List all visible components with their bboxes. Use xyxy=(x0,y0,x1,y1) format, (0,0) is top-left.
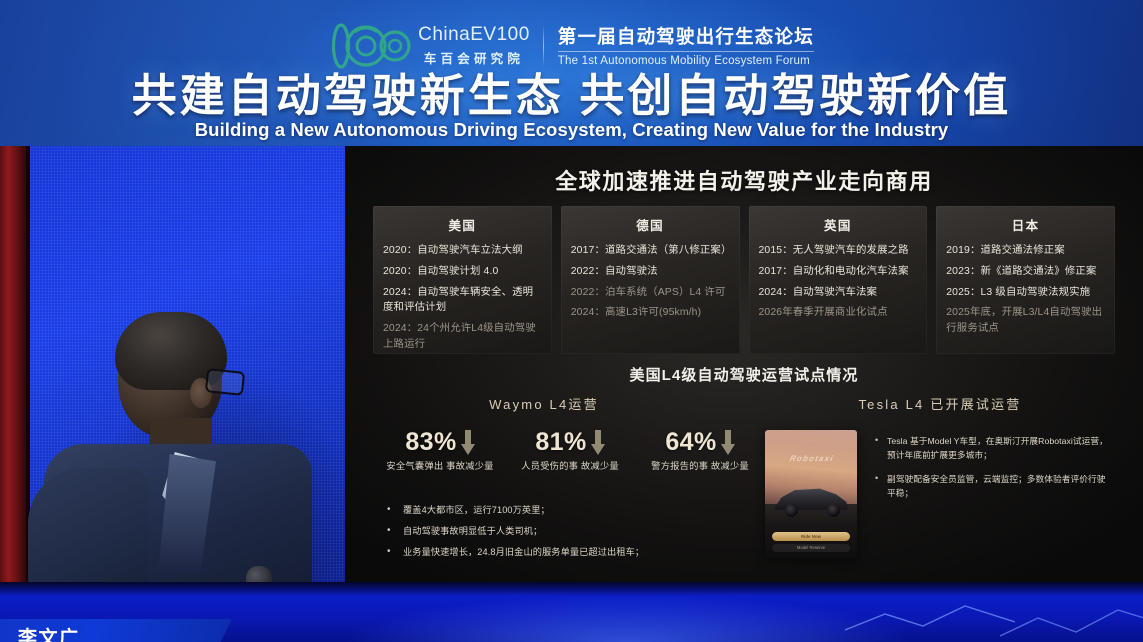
stat-value: 83% xyxy=(405,428,456,457)
robotaxi-watermark: Robotaxi xyxy=(773,454,849,470)
speaker-shoulder xyxy=(28,468,148,598)
banner-logo-row: ChinaEV100 车百会研究院 第一届自动驾驶出行生态论坛 The 1st … xyxy=(0,22,1143,70)
country-name: 德国 xyxy=(571,215,730,234)
promo-secondary-button[interactable]: Model Reserve xyxy=(772,544,850,552)
policy-item: 2024：24个州允许L4级自动驾驶上路运行 xyxy=(383,321,542,353)
speaker-glasses xyxy=(205,368,245,396)
waymo-bullet-list: 覆盖4大都市区，运行7100万英里； 自动驾驶事故明显低于人类司机； 业务量快速… xyxy=(381,504,761,567)
brand-name-cn: 车百会研究院 xyxy=(424,48,524,67)
policy-item: 2019：道路交通法修正案 xyxy=(946,243,1105,259)
robotaxi-promo-card: Robotaxi Ride Now Model Reserve xyxy=(765,430,857,558)
policy-item: 2026年春季开展商业化试点 xyxy=(759,305,918,321)
country-card: 德国 2017：道路交通法（第八修正案） 2022：自动驾驶法 2022：泊车系… xyxy=(561,206,740,354)
policy-item: 2022：泊车系统（APS）L4 许可 xyxy=(571,285,730,301)
policy-item: 2020：自动驾驶汽车立法大纲 xyxy=(383,243,542,259)
floor-light-glow xyxy=(343,594,915,642)
stat-value: 81% xyxy=(535,428,586,457)
stage-curtain xyxy=(0,146,30,598)
waymo-stat-list: 83% 安全气囊弹出 事故减少量 81% xyxy=(375,428,765,473)
presentation-slide: 全球加速推进自动驾驶产业走向商用 美国 2020：自动驾驶汽车立法大纲 2020… xyxy=(345,146,1143,598)
stage-scene: 李文广 引望智能驾驶产品线总裁 全球加速推进自动驾驶产业走向商用 美国 2020… xyxy=(0,146,1143,642)
policy-item: 2024：自动驾驶汽车法案 xyxy=(759,285,918,301)
stat-label: 警方报告的事 故减少量 xyxy=(635,460,765,473)
car-wheel xyxy=(827,504,840,517)
broadcast-frame: ChinaEV100 车百会研究院 第一届自动驾驶出行生态论坛 The 1st … xyxy=(0,0,1143,642)
stat-label: 人员受伤的事 故减少量 xyxy=(505,460,635,473)
country-card: 英国 2015：无人驾驶汽车的发展之路 2017：自动化和电动化汽车法案 202… xyxy=(749,206,928,354)
policy-item: 2025：L3 级自动驾驶法规实施 xyxy=(946,285,1105,301)
banner-sub-title: Building a New Autonomous Driving Ecosys… xyxy=(0,119,1143,141)
slide-title: 全球加速推进自动驾驶产业走向商用 xyxy=(345,164,1143,196)
arrow-down-icon xyxy=(721,430,735,456)
bullet-item: 业务量快速增长，24.8月旧金山的服务单量已超过出租车； xyxy=(381,546,761,559)
policy-item: 2024：自动驾驶车辆安全、透明度和评估计划 xyxy=(383,285,542,317)
promo-primary-label: Ride Now xyxy=(772,532,850,541)
country-policy-list: 2019：道路交通法修正案 2023：新《道路交通法》修正案 2025：L3 级… xyxy=(946,243,1105,337)
promo-primary-button[interactable]: Ride Now xyxy=(772,532,850,541)
policy-item: 2020：自动驾驶计划 4.0 xyxy=(383,264,542,280)
speaker-video-feed xyxy=(0,146,345,598)
bullet-item: 自动驾驶事故明显低于人类司机； xyxy=(381,525,761,538)
country-name: 日本 xyxy=(946,215,1105,234)
country-name: 美国 xyxy=(383,215,542,234)
tesla-pane: Tesla L4 已开展试运营 Robotaxi Ride Now Model … xyxy=(765,394,1115,590)
policy-item: 2022：自动驾驶法 xyxy=(571,264,730,280)
tesla-bullet-list: Tesla 基于Model Y车型，在奥斯汀开展Robotaxi试运营，预计年底… xyxy=(873,434,1109,510)
banner-divider xyxy=(543,25,544,67)
country-policy-list: 2015：无人驾驶汽车的发展之路 2017：自动化和电动化汽车法案 2024：自… xyxy=(759,243,918,321)
bullet-item: Tesla 基于Model Y车型，在奥斯汀开展Robotaxi试运营，预计年底… xyxy=(873,434,1109,462)
country-card: 日本 2019：道路交通法修正案 2023：新《道路交通法》修正案 2025：L… xyxy=(936,206,1115,354)
country-policy-list: 2020：自动驾驶汽车立法大纲 2020：自动驾驶计划 4.0 2024：自动驾… xyxy=(383,243,542,353)
forum-name-en: The 1st Autonomous Mobility Ecosystem Fo… xyxy=(558,55,814,67)
policy-item: 2015：无人驾驶汽车的发展之路 xyxy=(759,243,918,259)
waymo-stat: 83% 安全气囊弹出 事故减少量 xyxy=(375,428,505,473)
slide-section-title: 美国L4级自动驾驶运营试点情况 xyxy=(345,364,1143,385)
bullet-item: 覆盖4大都市区，运行7100万英里； xyxy=(381,504,761,517)
policy-item: 2024：高速L3许可(95km/h) xyxy=(571,305,730,321)
waymo-stat: 64% 警方报告的事 故减少量 xyxy=(635,428,765,473)
stat-value: 64% xyxy=(665,428,716,457)
promo-secondary-label: Model Reserve xyxy=(772,544,850,552)
speaker-name: 李文广 xyxy=(0,623,250,642)
china-ev100-logo-icon xyxy=(329,22,411,70)
slide-lower-panes: Waymo L4运营 83% 安全气囊弹出 事故减少量 xyxy=(373,394,1115,590)
country-card: 美国 2020：自动驾驶汽车立法大纲 2020：自动驾驶计划 4.0 2024：… xyxy=(373,206,552,354)
policy-item: 2017：自动化和电动化汽车法案 xyxy=(759,264,918,280)
policy-item: 2017：道路交通法（第八修正案） xyxy=(571,243,730,259)
policy-item: 2025年底，开展L3/L4自动驾驶出行服务试点 xyxy=(946,305,1105,337)
forum-title-block: 第一届自动驾驶出行生态论坛 The 1st Autonomous Mobilit… xyxy=(558,25,814,66)
country-name: 英国 xyxy=(759,215,918,234)
bullet-item: 副驾驶配备安全员监管，云端监控；多数体验者评价行驶平稳； xyxy=(873,472,1109,500)
country-policy-list: 2017：道路交通法（第八修正案） 2022：自动驾驶法 2022：泊车系统（A… xyxy=(571,243,730,321)
banner-main-title: 共建自动驾驶新生态 共创自动驾驶新价值 xyxy=(0,73,1143,118)
brand-name-en: ChinaEV100 xyxy=(418,25,530,45)
waymo-stat: 81% 人员受伤的事 故减少量 xyxy=(505,428,635,473)
arrow-down-icon xyxy=(461,430,475,456)
brand-text-block: ChinaEV100 车百会研究院 xyxy=(418,25,543,67)
arrow-down-icon xyxy=(591,430,605,456)
policy-item: 2023：新《道路交通法》修正案 xyxy=(946,264,1105,280)
stat-label: 安全气囊弹出 事故减少量 xyxy=(375,460,505,473)
country-card-list: 美国 2020：自动驾驶汽车立法大纲 2020：自动驾驶计划 4.0 2024：… xyxy=(373,206,1115,354)
waymo-pane: Waymo L4运营 83% 安全气囊弹出 事故减少量 xyxy=(373,394,765,590)
floor-light-line xyxy=(1000,592,1143,642)
event-banner: ChinaEV100 车百会研究院 第一届自动驾驶出行生态论坛 The 1st … xyxy=(0,0,1143,146)
tesla-heading: Tesla L4 已开展试运营 xyxy=(765,394,1115,413)
floor-light-line xyxy=(845,592,1015,642)
waymo-heading: Waymo L4运营 xyxy=(373,394,765,413)
forum-name-cn: 第一届自动驾驶出行生态论坛 xyxy=(558,25,814,48)
car-wheel xyxy=(785,504,798,517)
forum-rule xyxy=(558,51,814,52)
